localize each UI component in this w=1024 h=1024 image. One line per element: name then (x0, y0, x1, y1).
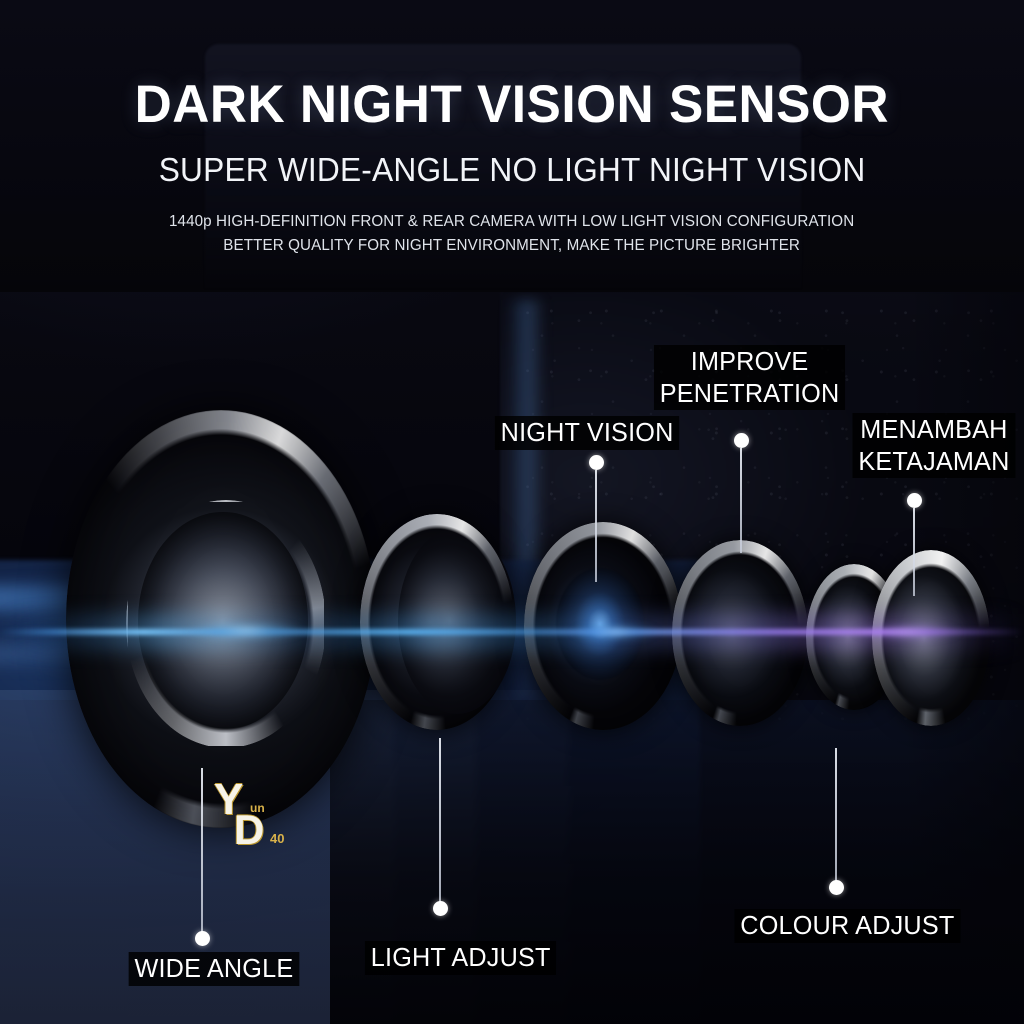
callout-dot-colour-adjust (829, 880, 844, 895)
lens-flare-hotspot-left (186, 622, 306, 640)
callout-line-night-vision (595, 470, 597, 582)
callout-label-menambah-ketajaman: MENAMBAH KETAJAMAN (853, 413, 1016, 478)
callout-line-light-adjust (439, 738, 441, 910)
callout-label-wide-angle: WIDE ANGLE (129, 952, 300, 986)
callout-dot-improve-penetration (734, 433, 749, 448)
callout-label-colour-adjust: COLOUR ADJUST (734, 909, 960, 943)
callout-label-improve-penetration: IMPROVE PENETRATION (654, 345, 845, 410)
callout-line-improve-penetration (740, 448, 742, 553)
watermark-letter-d: D (234, 809, 264, 851)
header-description: 1440p HIGH-DEFINITION FRONT & REAR CAMER… (169, 210, 854, 258)
callout-dot-wide-angle (195, 931, 210, 946)
callout-label-night-vision: NIGHT VISION (495, 416, 679, 450)
header-description-line-2: BETTER QUALITY FOR NIGHT ENVIRONMENT, MA… (169, 234, 854, 258)
lens-flare-hotspot-right (852, 624, 962, 640)
page-title: DARK NIGHT VISION SENSOR (135, 78, 889, 131)
header-description-line-1: 1440p HIGH-DEFINITION FRONT & REAR CAMER… (169, 210, 854, 234)
callout-dot-light-adjust (433, 901, 448, 916)
callout-dot-menambah-ketajaman (907, 493, 922, 508)
callout-line-menambah-ketajaman (913, 508, 915, 596)
callout-dot-night-vision (589, 455, 604, 470)
callout-line-wide-angle (201, 768, 203, 940)
page-subtitle: SUPER WIDE-ANGLE NO LIGHT NIGHT VISION (159, 153, 866, 186)
lens-flare-hotspot-center (570, 624, 660, 640)
watermark-text-40: 40 (270, 832, 284, 845)
product-banner: Y un D 40 DARK NIGHT VISION SENSOR SUPER… (0, 0, 1024, 1024)
yd-watermark-logo: Y un D 40 (212, 778, 308, 850)
callout-label-light-adjust: LIGHT ADJUST (365, 941, 556, 975)
header-content: DARK NIGHT VISION SENSOR SUPER WIDE-ANGL… (0, 0, 1024, 292)
callout-line-colour-adjust (835, 748, 837, 888)
